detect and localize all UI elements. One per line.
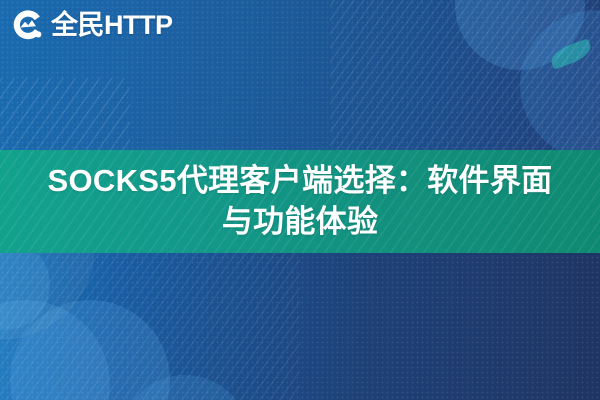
brand-name: 全民HTTP (51, 12, 173, 39)
title-line-2: 与功能体验 (222, 202, 379, 243)
banner-title: SOCKS5代理客户端选择：软件界面 与功能体验 (0, 150, 600, 253)
brand-logo[interactable]: 全民HTTP (10, 7, 173, 43)
promo-banner: 全民HTTP SOCKS5代理客户端选择：软件界面 与功能体验 (0, 0, 600, 400)
title-line-1: SOCKS5代理客户端选择：软件界面 (48, 161, 553, 202)
background-band-bottom (0, 252, 600, 400)
circular-wave-logo-icon (10, 7, 46, 43)
